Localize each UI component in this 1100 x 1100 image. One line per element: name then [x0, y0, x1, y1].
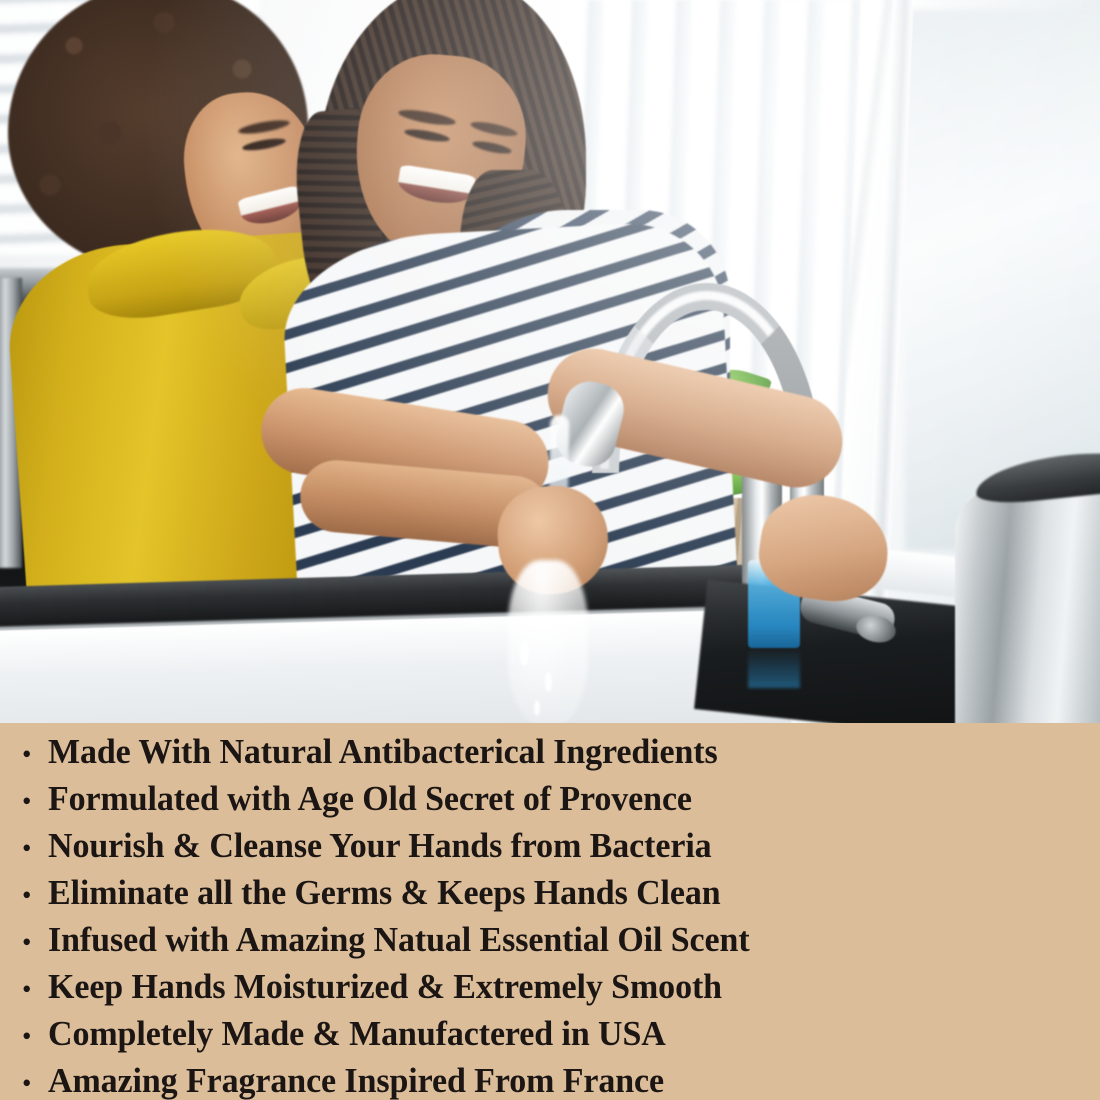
feature-item-5: • Infused with Amazing Natual Essential … [0, 919, 1100, 966]
bullet-icon: • [22, 929, 48, 956]
bullet-icon: • [22, 835, 48, 862]
feature-item-6: • Keep Hands Moisturized & Extremely Smo… [0, 966, 1100, 1013]
water-droplet [520, 640, 529, 666]
water-droplet [534, 700, 540, 716]
feature-label: Eliminate all the Germs & Keeps Hands Cl… [48, 872, 721, 914]
feature-item-8: • Amazing Fragrance Inspired From France [0, 1060, 1100, 1100]
feature-label: Made With Natural Antibacterical Ingredi… [48, 731, 718, 773]
feature-label: Amazing Fragrance Inspired From France [48, 1060, 664, 1100]
lifestyle-photo [0, 0, 1100, 723]
feature-item-1: • Made With Natural Antibacterical Ingre… [0, 731, 1100, 778]
feature-label: Completely Made & Manufactered in USA [48, 1013, 666, 1055]
bullet-icon: • [22, 976, 48, 1003]
product-feature-card: • Made With Natural Antibacterical Ingre… [0, 0, 1100, 1100]
feature-item-3: • Nourish & Cleanse Your Hands from Bact… [0, 825, 1100, 872]
feature-item-2: • Formulated with Age Old Secret of Prov… [0, 778, 1100, 825]
bullet-icon: • [22, 788, 48, 815]
feature-label: Formulated with Age Old Secret of Proven… [48, 778, 692, 820]
soap-bottle-reflection [748, 648, 800, 688]
bullet-icon: • [22, 882, 48, 909]
feature-label: Keep Hands Moisturized & Extremely Smoot… [48, 966, 722, 1008]
bullet-icon: • [22, 741, 48, 768]
stainless-kettle [955, 470, 1100, 723]
water-splash [508, 560, 588, 723]
feature-list: • Made With Natural Antibacterical Ingre… [0, 723, 1100, 1100]
feature-label: Nourish & Cleanse Your Hands from Bacter… [48, 825, 712, 867]
feature-item-7: • Completely Made & Manufactered in USA [0, 1013, 1100, 1060]
feature-label: Infused with Amazing Natual Essential Oi… [48, 919, 750, 961]
feature-item-4: • Eliminate all the Germs & Keeps Hands … [0, 872, 1100, 919]
bullet-icon: • [22, 1023, 48, 1050]
bullet-icon: • [22, 1070, 48, 1097]
water-droplet [545, 672, 552, 692]
feature-panel: • Made With Natural Antibacterical Ingre… [0, 723, 1100, 1100]
